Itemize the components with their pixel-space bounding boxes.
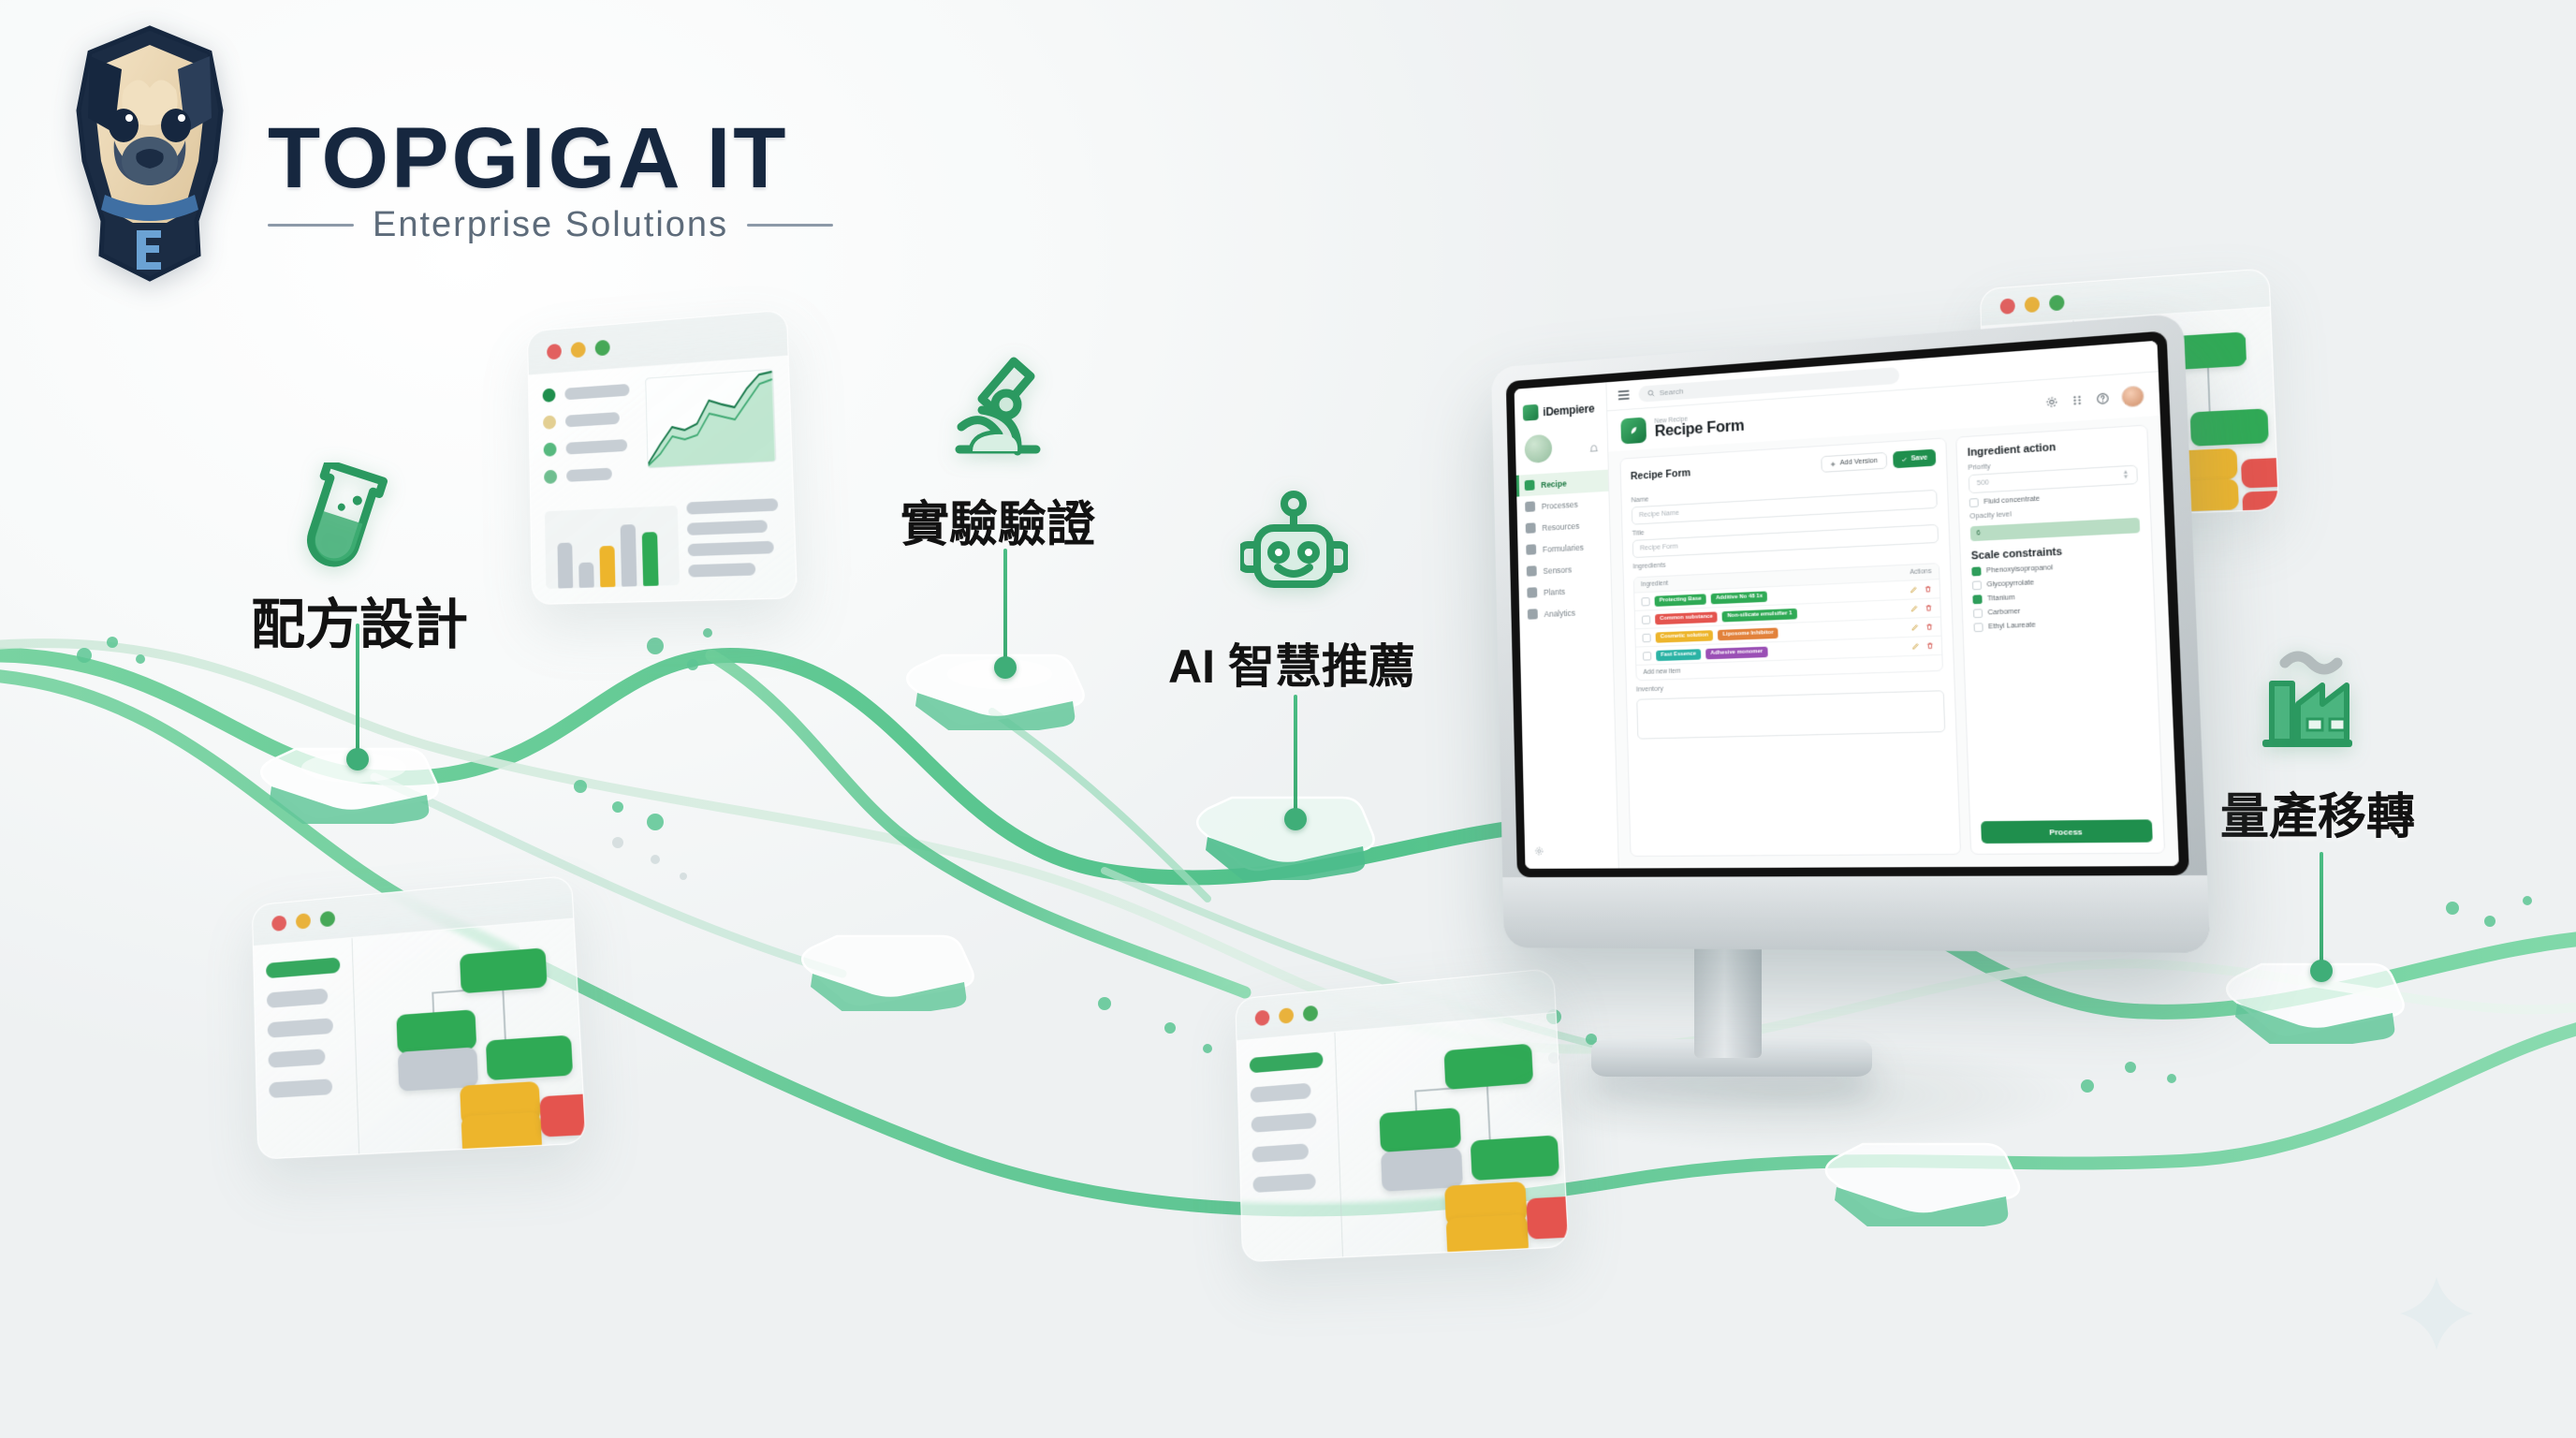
constraint-label: Phenoxyisopropanol bbox=[1986, 565, 2053, 575]
chart-legend-item bbox=[544, 438, 636, 457]
apps-grid-icon[interactable] bbox=[2070, 393, 2084, 407]
checkbox[interactable] bbox=[1969, 498, 1979, 507]
constraint-row[interactable]: Carbomer bbox=[1973, 602, 2144, 618]
dashboard-chart-card bbox=[527, 309, 798, 605]
checkbox[interactable] bbox=[1972, 594, 1982, 604]
ingredient-tag: Adhesive monomer bbox=[1705, 646, 1767, 659]
stage-stalk-2 bbox=[1003, 549, 1007, 668]
app-brand-name: iDempiere bbox=[1543, 402, 1594, 418]
checkbox-label: Fluid concentrate bbox=[1983, 495, 2040, 506]
ingredients-table: Ingredient Actions Protecting Base Addit… bbox=[1633, 563, 1943, 681]
robot-icon bbox=[1240, 489, 1348, 604]
stage-stalk-4 bbox=[2320, 852, 2323, 972]
bar bbox=[621, 524, 637, 586]
gauge-value: 6 bbox=[1977, 530, 1981, 537]
gear-icon[interactable] bbox=[1534, 845, 1544, 856]
constraint-row[interactable]: Phenoxyisopropanol bbox=[1971, 560, 2142, 577]
window-dot-green bbox=[595, 339, 610, 356]
bar bbox=[557, 543, 573, 589]
app-screen: iDempiere Recipe Processes bbox=[1515, 341, 2179, 869]
memo-field[interactable] bbox=[1636, 690, 1945, 739]
constraints-title: Scale constraints bbox=[1971, 542, 2142, 563]
test-tube-icon bbox=[296, 462, 408, 589]
clock-icon bbox=[1527, 587, 1537, 597]
sidebar-item-label: Processes bbox=[1542, 499, 1578, 510]
add-version-label: Add Version bbox=[1839, 458, 1878, 467]
help-icon[interactable] bbox=[2096, 391, 2110, 405]
delete-icon[interactable] bbox=[1925, 604, 1933, 612]
ingredient-tag: Cosmetic solution bbox=[1656, 630, 1714, 643]
checkbox[interactable] bbox=[1973, 609, 1983, 618]
bar bbox=[642, 532, 659, 586]
box-icon bbox=[1526, 522, 1536, 534]
desktop-monitor: iDempiere Recipe Processes bbox=[1491, 313, 2210, 952]
bom-tree bbox=[1336, 1013, 1569, 1257]
row-checkbox[interactable] bbox=[1642, 633, 1650, 642]
constraint-label: Carbomer bbox=[1987, 609, 2020, 617]
window-dot-red bbox=[1255, 1009, 1270, 1026]
flow-tree-card-left bbox=[252, 875, 587, 1160]
checkbox[interactable] bbox=[1971, 566, 1981, 576]
opacity-gauge[interactable]: 6 bbox=[1970, 518, 2141, 541]
edit-icon[interactable] bbox=[1910, 585, 1918, 594]
stage-label-ai-recommendation: AI 智慧推薦 bbox=[1168, 629, 1415, 697]
edit-icon[interactable] bbox=[1910, 624, 1919, 632]
sidebar-item-label: Recipe bbox=[1541, 478, 1566, 490]
stage-label-lab-validation: 實驗驗證 bbox=[900, 485, 1095, 555]
delete-icon[interactable] bbox=[1925, 623, 1934, 631]
search-placeholder: Search bbox=[1660, 387, 1684, 397]
bell-icon[interactable] bbox=[1588, 444, 1599, 455]
sidebar-item-analytics[interactable]: Analytics bbox=[1519, 600, 1612, 625]
constraint-row[interactable]: Glycopyrrolate bbox=[1972, 574, 2143, 591]
card-sidebar bbox=[1237, 1033, 1344, 1262]
stage-stalk-3 bbox=[1294, 695, 1297, 820]
area-chart bbox=[646, 369, 777, 469]
app-main: Search New Recipe Recipe Form bbox=[1606, 341, 2179, 869]
save-button[interactable]: Save bbox=[1893, 449, 1937, 469]
constraint-label: Glycopyrrolate bbox=[1986, 580, 2034, 589]
window-dot-yellow bbox=[2025, 296, 2040, 313]
gear-icon[interactable] bbox=[2044, 395, 2058, 409]
stage-label-mass-production: 量產移轉 bbox=[2220, 777, 2415, 847]
ingredient-tag: Protecting Base bbox=[1654, 594, 1705, 607]
chart-legend-item bbox=[543, 383, 634, 403]
checkbox[interactable] bbox=[1972, 580, 1982, 590]
monitor-frame: iDempiere Recipe Processes bbox=[1506, 330, 2189, 877]
save-label: Save bbox=[1910, 454, 1927, 462]
microscope-icon bbox=[941, 348, 1053, 470]
check-icon bbox=[1901, 456, 1908, 462]
stepper-arrows[interactable]: ▲▼ bbox=[2122, 470, 2129, 480]
hamburger-icon[interactable] bbox=[1618, 389, 1630, 400]
chart-legend-item bbox=[543, 410, 634, 430]
ingredient-tag: Common substance bbox=[1655, 611, 1718, 624]
pipeline-node-cube bbox=[1816, 1133, 2031, 1226]
window-dot-red bbox=[547, 343, 562, 359]
sidebar-item-label: Plants bbox=[1544, 586, 1565, 596]
sparkle-icon bbox=[2394, 1271, 2479, 1356]
window-dot-yellow bbox=[571, 341, 586, 358]
section-title: Recipe Form bbox=[1631, 467, 1691, 482]
search-icon bbox=[1647, 389, 1655, 398]
window-dot-yellow bbox=[1279, 1007, 1294, 1024]
delete-icon[interactable] bbox=[1924, 585, 1932, 594]
ingredient-action-panel: Ingredient action Priority 500 ▲▼ Fluid … bbox=[1955, 424, 2165, 855]
document-icon bbox=[1525, 480, 1535, 492]
window-dot-green bbox=[1303, 1005, 1318, 1021]
priority-value: 500 bbox=[1977, 479, 1989, 487]
edit-icon[interactable] bbox=[1911, 642, 1920, 651]
panel-header: Recipe Form Add Version bbox=[1631, 449, 1937, 485]
bar bbox=[578, 563, 594, 588]
add-version-button[interactable]: Add Version bbox=[1821, 452, 1887, 473]
row-checkbox[interactable] bbox=[1643, 652, 1651, 661]
sidebar-item-label: Formularies bbox=[1543, 542, 1584, 553]
window-dot-green bbox=[320, 911, 335, 928]
plus-icon bbox=[1830, 461, 1837, 467]
name-field-placeholder: Recipe Name bbox=[1639, 510, 1679, 519]
process-button[interactable]: Process bbox=[1981, 819, 2153, 844]
pipeline-node-cube bbox=[796, 927, 983, 1011]
factory-icon bbox=[2242, 629, 2368, 765]
avatar bbox=[1525, 434, 1553, 464]
pipeline-node-cube bbox=[1189, 786, 1385, 880]
grid-icon bbox=[1525, 501, 1535, 512]
ingredient-tag: Additive No 48 1x bbox=[1711, 591, 1768, 604]
sidebar-item-label: Analytics bbox=[1544, 608, 1575, 618]
ingredient-tag: Fast Essence bbox=[1656, 649, 1701, 661]
scene-background: TOPGIGA IT Enterprise Solutions bbox=[0, 0, 2576, 1438]
nodes-icon bbox=[1527, 565, 1537, 577]
constraint-row[interactable]: Titanium bbox=[1972, 588, 2143, 604]
idempiere-logo bbox=[1523, 404, 1539, 421]
app-sidebar: iDempiere Recipe Processes bbox=[1515, 382, 1619, 869]
delete-icon[interactable] bbox=[1925, 641, 1934, 650]
constraint-label: Titanium bbox=[1987, 594, 2015, 603]
window-dot-red bbox=[2000, 298, 2015, 314]
constraint-label: Ethyl Laureate bbox=[1988, 622, 2036, 630]
bom-tree bbox=[353, 918, 586, 1154]
constraint-row[interactable]: Ethyl Laureate bbox=[1973, 617, 2144, 633]
window-dot-yellow bbox=[296, 913, 311, 930]
card-sidebar bbox=[254, 938, 359, 1160]
gallery-icon bbox=[1526, 544, 1536, 555]
edit-icon[interactable] bbox=[1910, 605, 1919, 613]
page-icon bbox=[1620, 417, 1647, 444]
monitor-chin bbox=[1502, 875, 2210, 953]
column-ingredient: Ingredient bbox=[1641, 580, 1668, 588]
column-actions: Actions bbox=[1910, 568, 1932, 576]
bar bbox=[599, 546, 615, 587]
recipe-form-panel: Recipe Form Add Version bbox=[1619, 437, 1961, 857]
row-checkbox[interactable] bbox=[1641, 596, 1649, 606]
app-content: Recipe Form Add Version bbox=[1608, 416, 2179, 869]
user-avatar[interactable] bbox=[2121, 385, 2144, 407]
chart-legend-item bbox=[544, 465, 636, 484]
ingredient-tag: Liposome Inhibitor bbox=[1718, 627, 1778, 640]
window-dot-red bbox=[271, 915, 286, 932]
window-dot-green bbox=[2049, 294, 2065, 311]
bars-icon bbox=[1528, 609, 1538, 619]
sidebar-item-label: Resources bbox=[1542, 521, 1579, 532]
row-checkbox[interactable] bbox=[1642, 615, 1650, 624]
flow-tree-card-center bbox=[1235, 968, 1569, 1263]
sidebar-item-label: Sensors bbox=[1543, 565, 1572, 576]
title-field-placeholder: Recipe Form bbox=[1640, 543, 1678, 551]
stage-label-formula-design: 配方設計 bbox=[251, 580, 468, 659]
header-tools bbox=[2044, 385, 2144, 413]
ingredient-tag: Non-silicate emulsifier 1 bbox=[1722, 608, 1797, 622]
checkbox[interactable] bbox=[1973, 623, 1983, 632]
